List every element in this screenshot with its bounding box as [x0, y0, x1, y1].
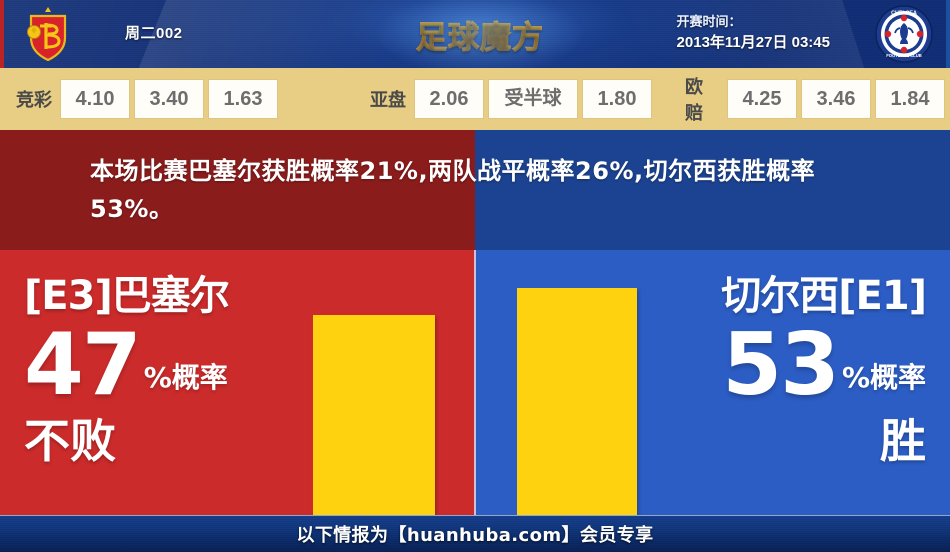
odds-cell-draw[interactable]: 3.46 — [802, 80, 870, 118]
odds-cell-away[interactable]: 1.84 — [876, 80, 944, 118]
odds-group-european: 欧赔 4.25 3.46 1.84 — [685, 68, 950, 130]
home-verdict: 不败 — [24, 414, 229, 468]
away-team-panel: 切尔西[E1] 53 %概率 胜 — [475, 250, 950, 515]
odds-cell-home[interactable]: 4.10 — [61, 80, 129, 118]
site-brand-logo: 足球魔方 — [405, 8, 555, 60]
odds-group-label: 欧赔 — [685, 73, 719, 125]
home-probability-bar — [313, 315, 435, 515]
odds-group-label: 竞彩 — [16, 86, 52, 112]
panel-divider — [474, 250, 476, 515]
probability-summary-text: 本场比赛巴塞尔获胜概率21%,两队战平概率26%,切尔西获胜概率53%。 — [90, 152, 870, 228]
odds-bar: 竞彩 4.10 3.40 1.63 亚盘 2.06 受半球 1.80 欧赔 4.… — [0, 68, 950, 130]
chelsea-fc-crest-icon: CHELSEA FOOTBALL CLUB — [874, 4, 934, 64]
match-number: 周二002 — [125, 22, 183, 43]
away-team-name: 切尔西[E1] — [721, 272, 926, 320]
odds-cell-home[interactable]: 4.25 — [728, 80, 796, 118]
kickoff-label: 开赛时间： — [677, 12, 830, 32]
away-verdict: 胜 — [721, 414, 926, 468]
header-left-edge-accent — [0, 0, 4, 68]
members-notice-footer: 以下情报为【huanhuba.com】会员专享 — [0, 515, 950, 552]
match-header: 周二002 足球魔方 开赛时间： 2013年11月27日 03:45 CHELS… — [0, 0, 950, 68]
away-percent-value: 53 — [722, 322, 838, 408]
kickoff-info: 开赛时间： 2013年11月27日 03:45 — [677, 12, 830, 54]
odds-group-label: 亚盘 — [370, 86, 406, 112]
home-team-name: [E3]巴塞尔 — [24, 272, 229, 320]
odds-cell-handicap[interactable]: 受半球 — [489, 80, 577, 118]
team-probability-panels: [E3]巴塞尔 47 %概率 不败 切尔西[E1] 53 %概率 胜 — [0, 250, 950, 515]
members-notice-text: 以下情报为【huanhuba.com】会员专享 — [0, 515, 950, 552]
home-team-info: [E3]巴塞尔 47 %概率 不败 — [24, 272, 229, 468]
odds-cell-home[interactable]: 2.06 — [415, 80, 483, 118]
odds-cell-away[interactable]: 1.80 — [583, 80, 651, 118]
brand-text: 足球魔方 — [416, 12, 544, 57]
away-percent-row: 53 %概率 — [721, 322, 926, 408]
home-team-panel: [E3]巴塞尔 47 %概率 不败 — [0, 250, 475, 515]
kickoff-time: 2013年11月27日 03:45 — [677, 32, 830, 54]
away-probability-bar — [517, 288, 637, 515]
probability-summary-banner: 本场比赛巴塞尔获胜概率21%,两队战平概率26%,切尔西获胜概率53%。 — [0, 130, 950, 250]
away-team-info: 切尔西[E1] 53 %概率 胜 — [721, 272, 926, 468]
svg-text:CHELSEA: CHELSEA — [891, 11, 917, 17]
header-right-edge-accent — [946, 0, 950, 68]
odds-group-jingcai: 竞彩 4.10 3.40 1.63 — [16, 68, 283, 130]
odds-group-asian-handicap: 亚盘 2.06 受半球 1.80 — [370, 68, 657, 130]
svg-text:FOOTBALL CLUB: FOOTBALL CLUB — [886, 53, 922, 58]
home-percent-unit: %概率 — [144, 356, 228, 400]
match-preview-card: 周二002 足球魔方 开赛时间： 2013年11月27日 03:45 CHELS… — [0, 0, 950, 552]
fc-basel-crest-icon — [18, 4, 78, 64]
away-percent-unit: %概率 — [842, 356, 926, 400]
odds-cell-draw[interactable]: 3.40 — [135, 80, 203, 118]
odds-cell-away[interactable]: 1.63 — [209, 80, 277, 118]
home-percent-row: 47 %概率 — [24, 322, 229, 408]
home-percent-value: 47 — [24, 322, 140, 408]
